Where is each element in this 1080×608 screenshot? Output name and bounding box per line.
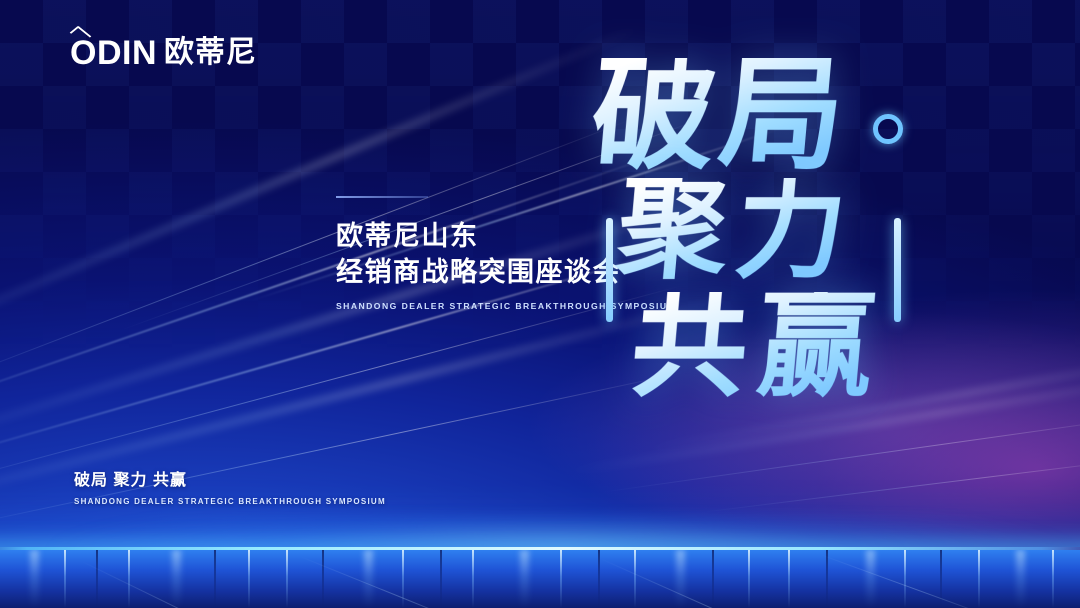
vertical-bar-left-icon (606, 218, 613, 322)
slogan-row-2: 聚力 (614, 178, 859, 279)
floor-streak-field (0, 550, 1080, 608)
vertical-bar-right-icon (894, 218, 901, 322)
circle-mark-icon (873, 114, 903, 144)
footer-tagline-chinese: 破局 聚力 共赢 (74, 466, 386, 490)
odin-logo: ODIN 欧蒂尼 (70, 36, 257, 70)
slogan-row-1: 破局 (587, 58, 853, 172)
odin-chinese-text: 欧蒂尼 (164, 38, 257, 68)
footer-tagline: 破局 聚力 共赢 SHANDONG DEALER STRATEGIC BREAK… (74, 466, 386, 506)
event-backdrop-poster: ODIN 欧蒂尼 欧蒂尼山东 经销商战略突围座谈会 SHANDONG DEALE… (0, 0, 1080, 608)
footer-tagline-english: SHANDONG DEALER STRATEGIC BREAKTHROUGH S… (74, 497, 386, 506)
title-divider-rule (336, 196, 428, 198)
slogan-row-3: 共赢 (627, 292, 888, 399)
slogan-calligraphy: 破局 聚力 共赢 (566, 52, 1026, 472)
odin-wordmark: ODIN (70, 36, 157, 70)
